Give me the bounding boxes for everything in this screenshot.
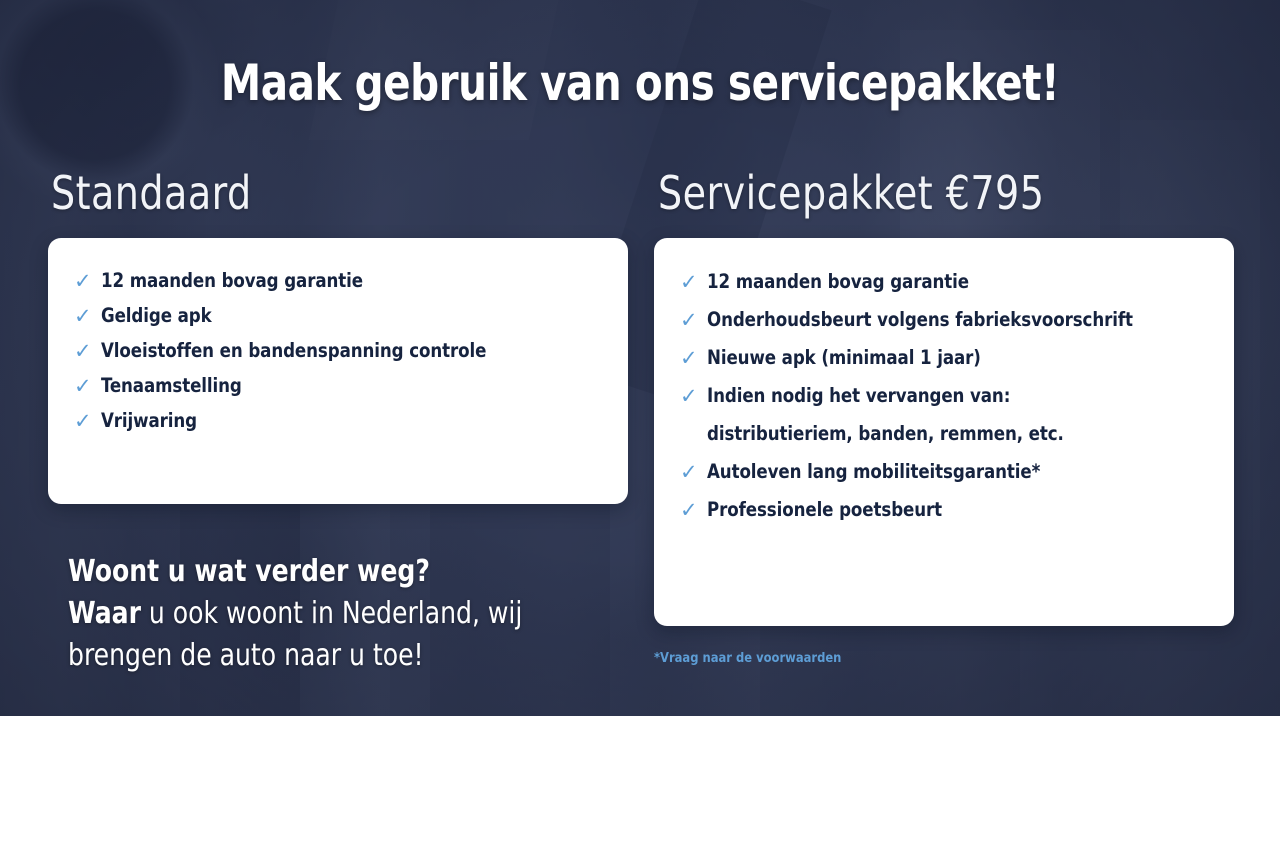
list-item: ✓ Vloeistoffen en bandenspanning control…: [74, 340, 654, 362]
list-item: ✓ Tenaamstelling: [74, 375, 654, 397]
servicepakket-feature-card: ✓ 12 maanden bovag garantie ✓ Onderhouds…: [654, 238, 1234, 626]
promo-question: Woont u wat verder weg?: [68, 551, 589, 593]
list-item: ✓ Indien nodig het vervangen van: distri…: [680, 385, 1260, 445]
list-item: ✓ Autoleven lang mobiliteitsgarantie*: [680, 461, 1260, 483]
standaard-feature-list: ✓ 12 maanden bovag garantie ✓ Geldige ap…: [48, 238, 680, 536]
list-item-label: Nieuwe apk (minimaal 1 jaar): [707, 347, 981, 369]
promo-poster: Maak gebruik van ons servicepakket! Stan…: [0, 0, 1280, 853]
promo-answer-line1: Waar u ook woont in Nederland, wij: [68, 593, 589, 635]
check-icon: ✓: [74, 375, 96, 397]
list-item: ✓ Geldige apk: [74, 305, 654, 327]
list-item-label: 12 maanden bovag garantie: [101, 270, 363, 292]
check-icon: ✓: [680, 385, 702, 407]
list-item-label: Onderhoudsbeurt volgens fabrieksvoorschr…: [707, 309, 1133, 331]
list-item: ✓ Nieuwe apk (minimaal 1 jaar): [680, 347, 1260, 369]
check-icon: ✓: [680, 309, 702, 331]
list-item-continuation: distributieriem, banden, remmen, etc.: [707, 423, 1232, 445]
page-title: Maak gebruik van ons servicepakket!: [64, 58, 1216, 108]
promo-answer-rest: u ook woont in Nederland, wij: [141, 596, 522, 631]
column-heading-servicepakket: Servicepakket €795: [658, 170, 1044, 216]
column-heading-standaard: Standaard: [51, 170, 252, 216]
conditions-footnote: *Vraag naar de voorwaarden: [654, 650, 841, 666]
check-icon: ✓: [680, 271, 702, 293]
check-icon: ✓: [680, 499, 702, 521]
check-icon: ✓: [680, 461, 702, 483]
list-item-label: Professionele poetsbeurt: [707, 499, 942, 521]
list-item-label: Vrijwaring: [101, 410, 197, 432]
promo-answer-emphasis: Waar: [68, 596, 141, 631]
list-item-label: Indien nodig het vervangen van:: [707, 385, 1010, 407]
list-item: ✓ Vrijwaring: [74, 410, 654, 432]
check-icon: ✓: [680, 347, 702, 369]
check-icon: ✓: [74, 340, 96, 362]
list-item-label: Geldige apk: [101, 305, 212, 327]
list-item: ✓ Onderhoudsbeurt volgens fabrieksvoorsc…: [680, 309, 1260, 331]
list-item-label: 12 maanden bovag garantie: [707, 271, 969, 293]
servicepakket-feature-list: ✓ 12 maanden bovag garantie ✓ Onderhouds…: [654, 238, 1280, 659]
check-icon: ✓: [74, 305, 96, 327]
list-item: ✓ 12 maanden bovag garantie: [680, 271, 1260, 293]
list-item-label: Vloeistoffen en bandenspanning controle: [101, 340, 486, 362]
footer-bar: Meer informatie: wijnne.nl AUTOBEDRIJF W…: [0, 716, 1280, 853]
list-item: ✓ Professionele poetsbeurt: [680, 499, 1260, 521]
promo-answer-line2: brengen de auto naar u toe!: [68, 635, 589, 677]
list-item: ✓ 12 maanden bovag garantie: [74, 270, 654, 292]
list-item-label: Tenaamstelling: [101, 375, 242, 397]
delivery-promo-block: Woont u wat verder weg? Waar u ook woont…: [68, 551, 628, 677]
check-icon: ✓: [74, 410, 96, 432]
check-icon: ✓: [74, 270, 96, 292]
standaard-feature-card: ✓ 12 maanden bovag garantie ✓ Geldige ap…: [48, 238, 628, 504]
list-item-label: Autoleven lang mobiliteitsgarantie*: [707, 461, 1040, 483]
